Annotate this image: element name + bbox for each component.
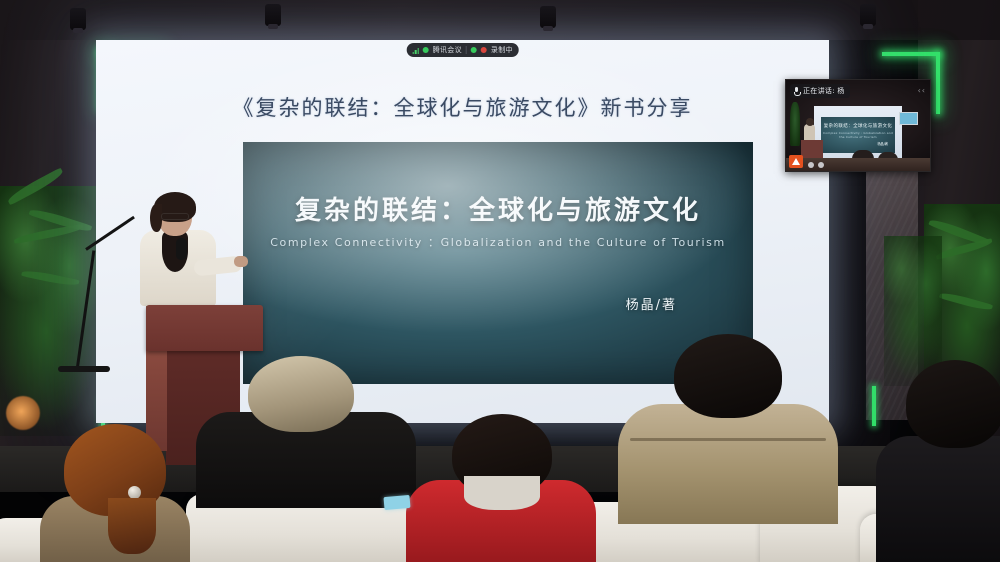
audience-head (906, 360, 1000, 448)
glasses-icon (161, 213, 189, 220)
chevron-left-icon[interactable]: ‹‹ (918, 86, 926, 95)
microphone-base (58, 366, 110, 372)
audience-body (618, 404, 838, 524)
pip-confidence-monitor (899, 112, 918, 125)
audience-member (40, 424, 190, 562)
back-wall-top-band (0, 0, 1000, 40)
ceiling-spotlight (540, 6, 556, 28)
pip-speaking-label: 正在讲话: 杨 (790, 84, 850, 98)
book-cover-subtitle: Complex Connectivity ：Globalization and … (243, 234, 753, 250)
audience-head (248, 356, 354, 432)
pip-podium (801, 140, 823, 160)
audience-collar (464, 476, 540, 510)
camera-on-icon (471, 47, 477, 53)
pip-cover-author: 杨晶/著 (877, 141, 888, 146)
audience-body (876, 436, 1000, 562)
pip-plant (790, 102, 800, 146)
jacket-shoulder-seam (630, 438, 826, 441)
pip-speaking-text: 正在讲话: 杨 (803, 86, 845, 96)
green-led-bracket-top-right (882, 52, 940, 56)
green-led-bracket-right-vertical (936, 52, 940, 114)
meeting-app-label: 腾讯会议 (433, 45, 462, 55)
pip-cover-subtitle: Complex Connectivity : Globalization and… (821, 131, 895, 139)
record-dot-icon (481, 47, 487, 53)
stage-scene: 腾讯会议 录制中 《复杂的联结：全球化与旅游文化》新书分享 复杂的联结：全球化与… (0, 0, 1000, 562)
podium-top (146, 305, 263, 351)
pip-control-dot[interactable] (818, 162, 824, 168)
screen-share-icon[interactable] (789, 155, 803, 168)
recording-label: 录制中 (491, 45, 513, 55)
slide-heading: 《复杂的联结：全球化与旅游文化》新书分享 (96, 92, 829, 122)
pip-control-dot[interactable] (808, 162, 814, 168)
book-cover-author: 杨晶/著 (626, 294, 677, 313)
picture-in-picture-self-view[interactable]: 复杂的联结：全球化与旅游文化 Complex Connectivity : Gl… (785, 79, 931, 172)
pip-control-dots[interactable] (808, 162, 824, 168)
audience-head (674, 334, 782, 418)
audience-member (618, 334, 838, 524)
book-cover-title: 复杂的联结：全球化与旅游文化 (243, 190, 753, 227)
warm-accent-lamp (6, 396, 40, 430)
microphone-head (176, 238, 187, 260)
ceiling-spotlight (860, 4, 876, 26)
mic-icon (794, 87, 799, 95)
ceiling-spotlight (70, 8, 86, 30)
toolbar-divider (466, 46, 467, 54)
presenter-hand (234, 256, 248, 267)
pip-cover-title: 复杂的联结：全球化与旅游文化 (821, 123, 895, 129)
audience-ponytail (108, 498, 156, 554)
smartphone-on-sofa[interactable] (383, 495, 410, 510)
pip-book-cover: 复杂的联结：全球化与旅游文化 Complex Connectivity : Gl… (821, 117, 895, 153)
audience-member (406, 414, 596, 562)
signal-bars-icon (412, 47, 419, 54)
tencent-meeting-toolbar[interactable]: 腾讯会议 录制中 (406, 43, 519, 57)
audience-member (196, 356, 416, 506)
mic-on-icon (423, 47, 429, 53)
audience-member (876, 360, 1000, 562)
ceiling-spotlight (265, 4, 281, 26)
